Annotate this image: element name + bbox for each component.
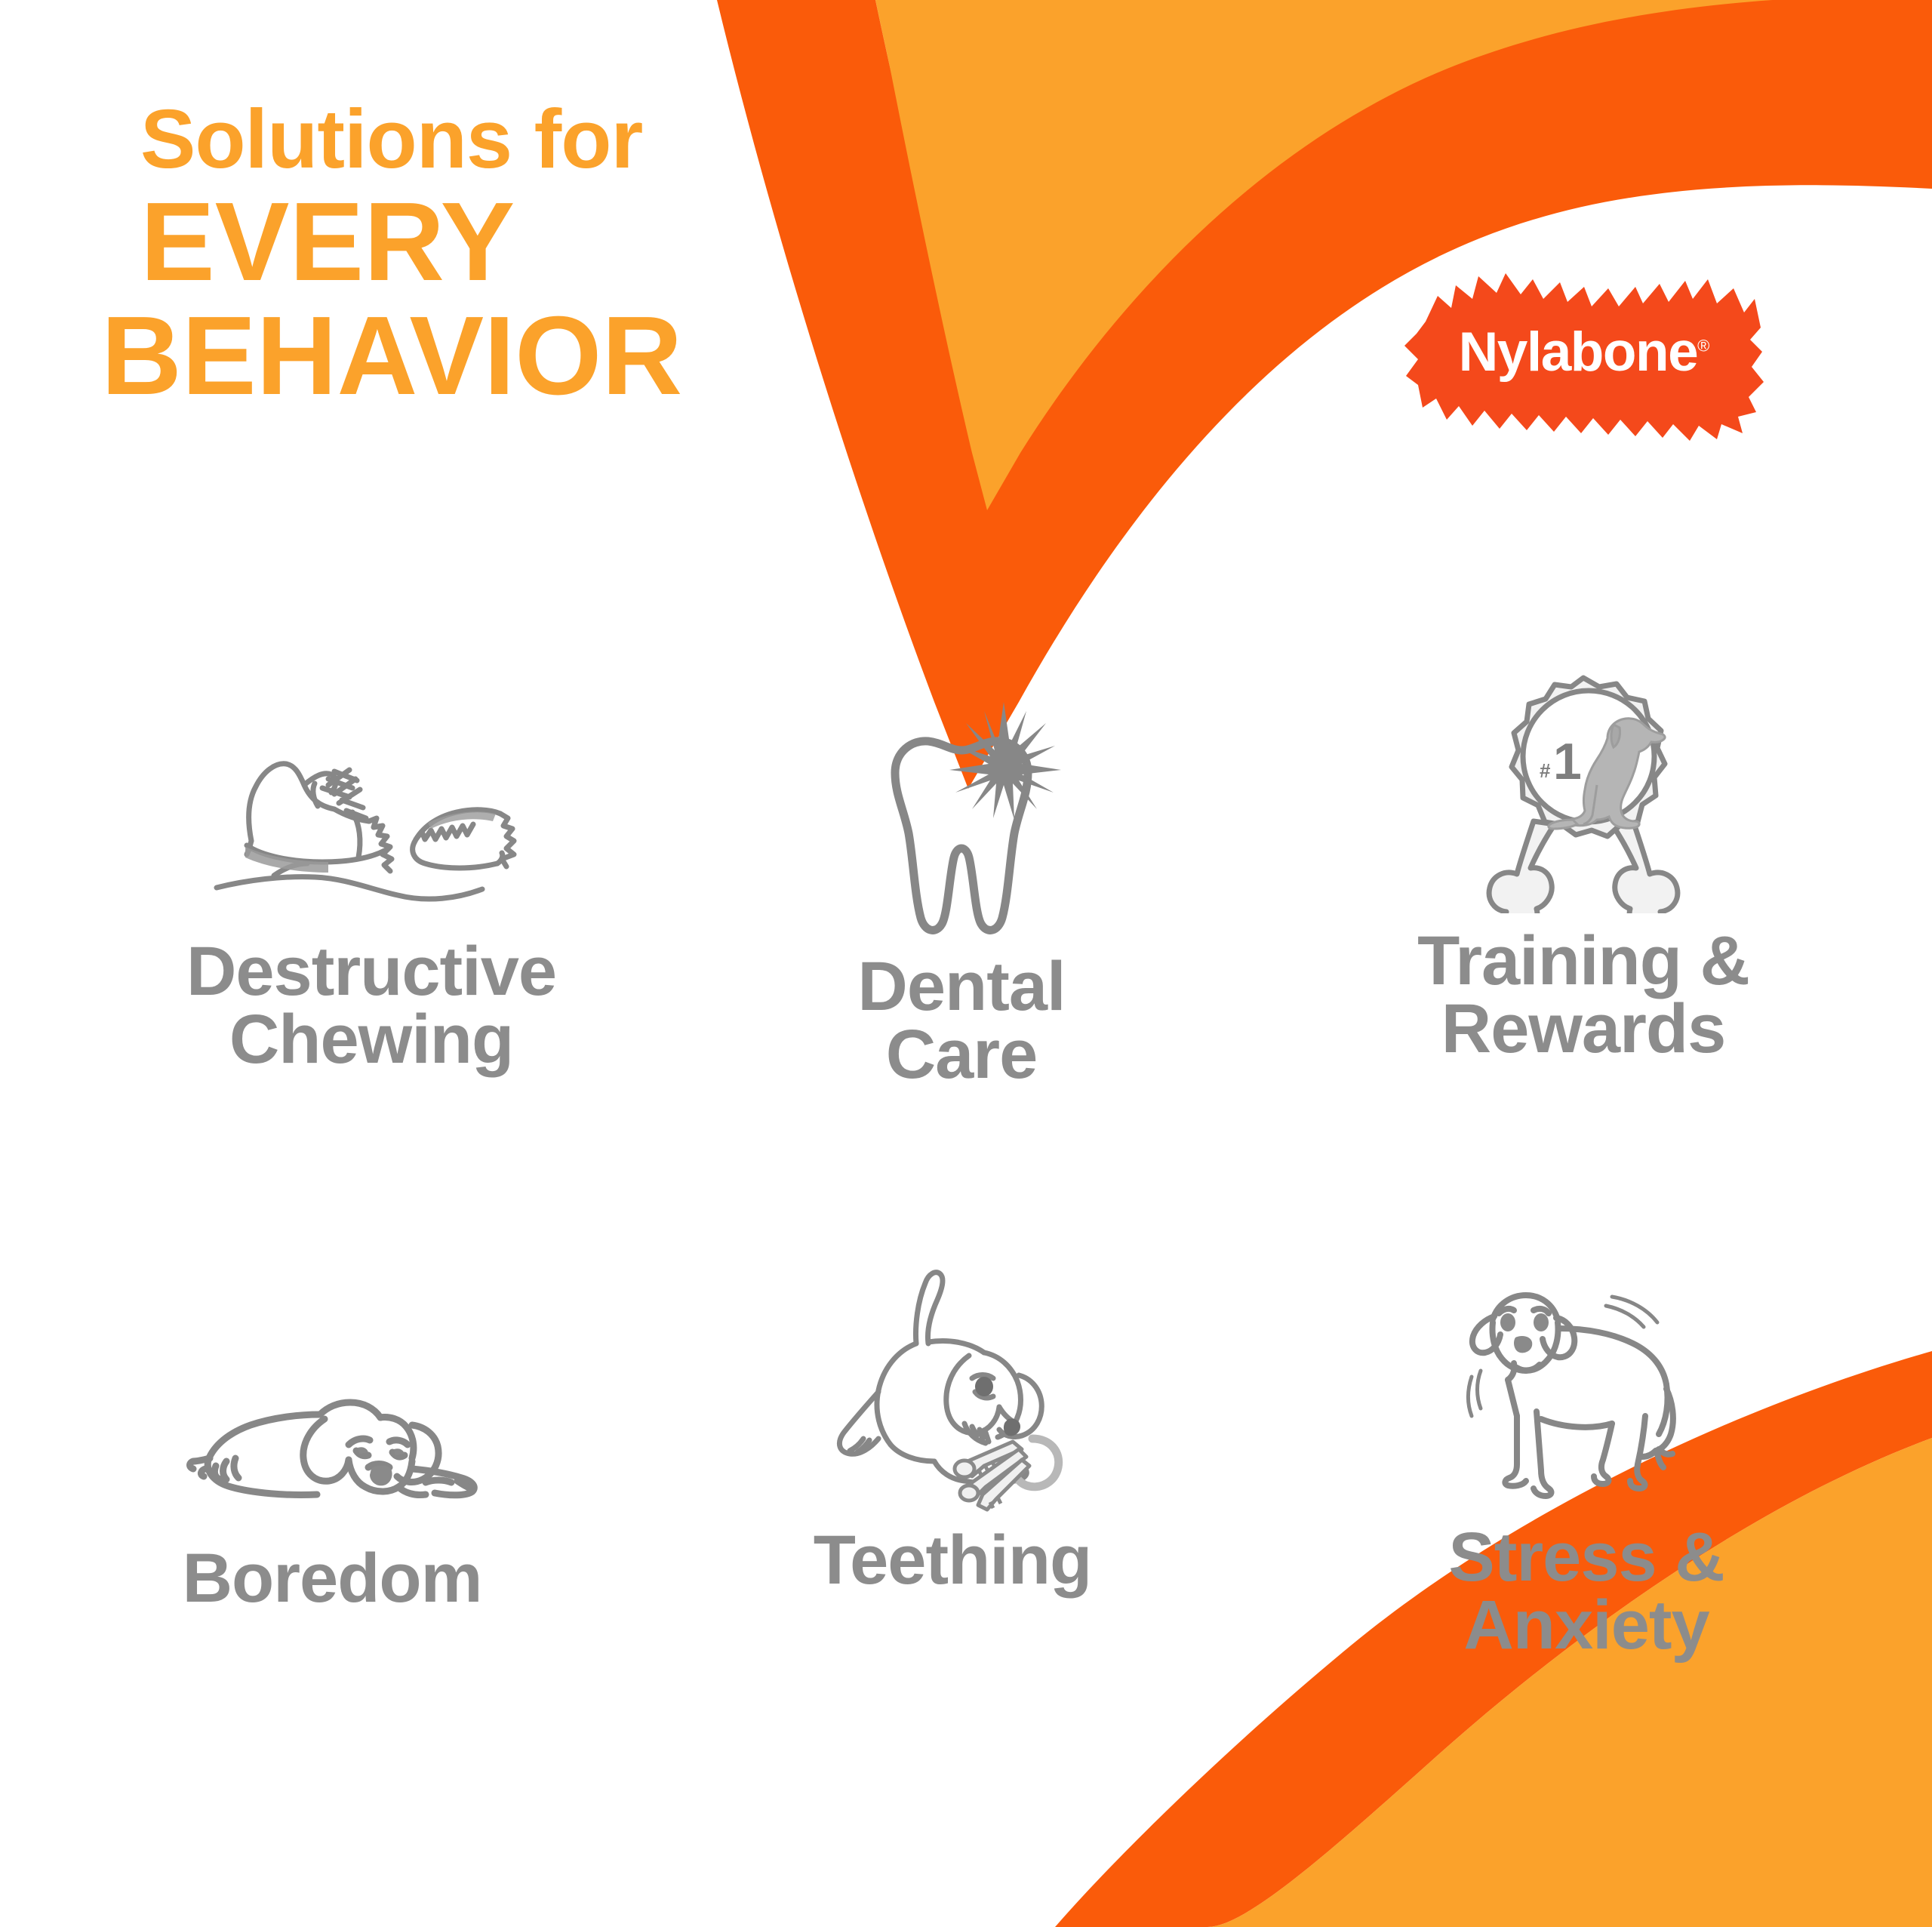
nylabone-logo: Nylabone® [1400,249,1777,445]
behavior-label: Teething [814,1526,1092,1594]
page-title: Solutions for EVERY BEHAVIOR [140,98,895,414]
behavior-label: Training & Rewards [1417,927,1749,1063]
award-rosette-dog-icon: # 1 [1470,664,1697,913]
anxious-dog-standing-icon [1458,1261,1715,1510]
headline-line-1: Solutions for [140,98,895,181]
headline-line-2: EVERY [140,186,895,300]
rosette-hash-symbol: # [1540,759,1551,782]
behavior-item-destructive-chewing[interactable]: Destructive Chewing [69,675,673,1211]
chewed-shoe-icon [202,675,541,924]
behavior-item-training-rewards[interactable]: # 1 Training & Rewards [1281,664,1885,1200]
behavior-label: Dental Care [857,953,1065,1088]
sparkling-tooth-icon [848,690,1075,939]
teething-keys-toy [955,1439,1059,1510]
behavior-label: Boredom [183,1544,482,1612]
behavior-item-dental-care[interactable]: Dental Care [660,690,1263,1226]
behavior-item-stress-anxiety[interactable]: Stress & Anxiety [1284,1261,1888,1796]
rosette-rank-number: 1 [1553,733,1582,790]
bored-dog-lying-icon [166,1282,498,1531]
puppy-chewing-keys-icon [824,1264,1081,1513]
behavior-item-boredom[interactable]: Boredom [30,1282,634,1818]
behavior-grid: Destructive Chewing Dental Care [60,679,1872,1751]
poster-canvas: Solutions for EVERY BEHAVIOR Nylabone® [0,0,1932,1927]
sparkle-star [949,702,1061,820]
headline-line-3: BEHAVIOR [101,300,895,414]
behavior-label: Stress & Anxiety [1448,1523,1724,1659]
behavior-label: Destructive Chewing [186,937,556,1073]
logo-brush-shape [1400,249,1777,445]
behavior-item-teething[interactable]: Teething [651,1264,1254,1799]
